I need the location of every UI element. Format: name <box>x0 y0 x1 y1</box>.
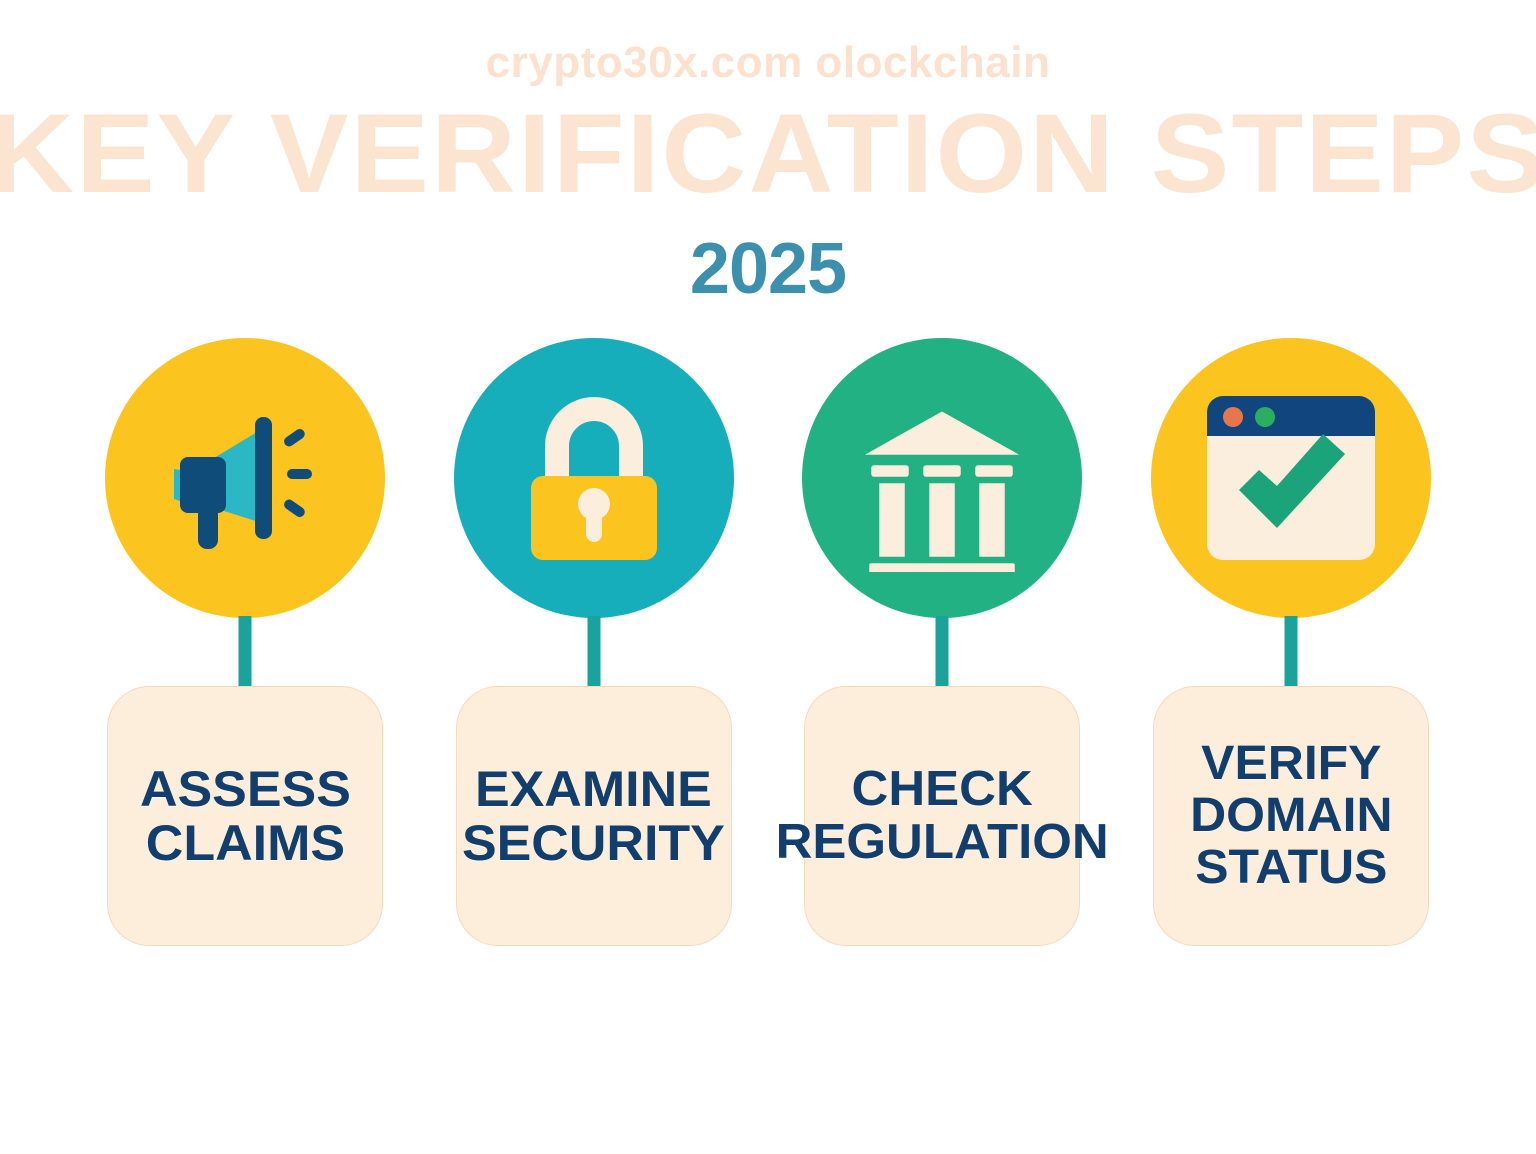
step-icon-circle-1 <box>105 338 385 618</box>
window-dot-red <box>1223 407 1243 427</box>
padlock-icon <box>509 388 679 568</box>
step-check-regulation: CHECK REGULATION <box>797 338 1087 958</box>
step-icon-circle-4 <box>1151 338 1431 618</box>
window-dot-green <box>1255 407 1275 427</box>
connector-stem-4 <box>1284 616 1297 694</box>
step-icon-circle-2 <box>454 338 734 618</box>
page-title: KEY VERIFICATION STEPS <box>0 104 1536 204</box>
step-examine-security: EXAMINE SECURITY <box>449 338 739 958</box>
connector-stem-1 <box>239 616 252 694</box>
step-card-3: CHECK REGULATION <box>804 686 1080 946</box>
steps-row: ASSESS CLAIMS <box>100 338 1436 958</box>
step-card-2: EXAMINE SECURITY <box>456 686 732 946</box>
step-label-2: EXAMINE SECURITY <box>462 762 725 870</box>
year-subtitle: 2025 <box>0 228 1536 310</box>
step-verify-domain-status: VERIFY DOMAIN STATUS <box>1146 338 1436 958</box>
step-card-1: ASSESS CLAIMS <box>107 686 383 946</box>
step-card-4: VERIFY DOMAIN STATUS <box>1153 686 1429 946</box>
browser-window-check-icon <box>1199 386 1383 570</box>
step-icon-circle-3 <box>802 338 1082 618</box>
step-label-1: ASSESS CLAIMS <box>140 762 351 870</box>
step-assess-claims: ASSESS CLAIMS <box>100 338 390 958</box>
step-label-4: VERIFY DOMAIN STATUS <box>1190 738 1392 893</box>
connector-stem-3 <box>936 616 949 694</box>
bank-building-icon <box>848 384 1036 572</box>
infographic-canvas: crypto30x.com olockchain KEY VERIFICATIO… <box>0 0 1536 1154</box>
megaphone-icon <box>150 383 340 573</box>
connector-stem-2 <box>587 616 600 694</box>
brand-watermark: crypto30x.com olockchain <box>0 38 1536 88</box>
step-label-3: CHECK REGULATION <box>776 763 1109 869</box>
